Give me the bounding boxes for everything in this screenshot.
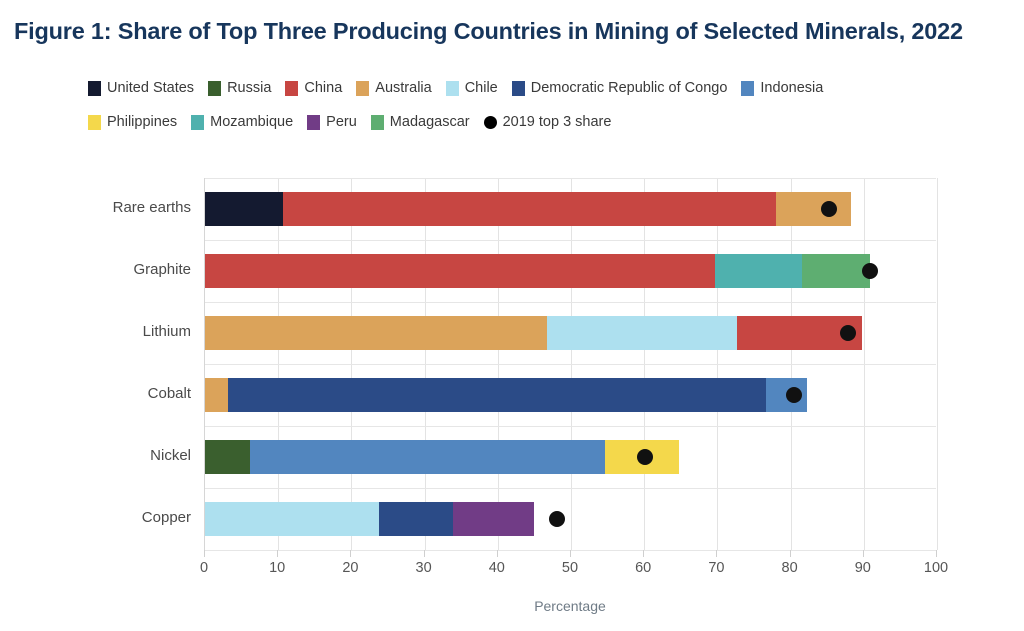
- x-tick: [936, 550, 937, 557]
- x-tick-label-0: 0: [200, 560, 208, 576]
- legend-swatch-icon: [446, 81, 459, 96]
- stacked-bar[interactable]: [205, 316, 862, 350]
- y-axis-label-cobalt: Cobalt: [148, 385, 191, 402]
- x-tick-label-90: 90: [855, 560, 871, 576]
- x-tick: [863, 550, 864, 557]
- legend-united-states[interactable]: United States: [88, 80, 194, 96]
- x-tick-label-100: 100: [924, 560, 948, 576]
- legend-china[interactable]: China: [285, 80, 342, 96]
- bar-row: Graphite: [205, 240, 936, 302]
- x-tick-label-70: 70: [708, 560, 724, 576]
- bar-segment[interactable]: [205, 254, 715, 288]
- x-tick-label-60: 60: [635, 560, 651, 576]
- x-tick: [350, 550, 351, 557]
- x-tick-label-20: 20: [342, 560, 358, 576]
- figure-title: Figure 1: Share of Top Three Producing C…: [14, 18, 1014, 45]
- x-tick-label-50: 50: [562, 560, 578, 576]
- legend-2019-marker[interactable]: 2019 top 3 share: [484, 114, 612, 130]
- y-axis-label-graphite: Graphite: [133, 261, 191, 278]
- chart-legend: United StatesRussiaChinaAustraliaChileDe…: [88, 76, 968, 144]
- bar-row: Rare earths: [205, 178, 936, 240]
- figure-container: Figure 1: Share of Top Three Producing C…: [0, 0, 1024, 631]
- bar-segment[interactable]: [547, 316, 737, 350]
- x-tick: [716, 550, 717, 557]
- bar-segment[interactable]: [715, 254, 802, 288]
- legend-indonesia[interactable]: Indonesia: [741, 80, 823, 96]
- legend-label: United States: [107, 80, 194, 96]
- bar-segment[interactable]: [205, 316, 547, 350]
- x-axis-title: Percentage: [204, 598, 936, 614]
- bar-segment[interactable]: [776, 192, 851, 226]
- legend-russia[interactable]: Russia: [208, 80, 271, 96]
- gridline-100: [937, 178, 938, 550]
- plot-area: Rare earthsGraphiteLithiumCobaltNickelCo…: [204, 178, 936, 550]
- bar-segment[interactable]: [205, 378, 228, 412]
- x-tick: [497, 550, 498, 557]
- legend-label: Peru: [326, 114, 357, 130]
- x-tick-label-30: 30: [416, 560, 432, 576]
- marker-2019-top3-share[interactable]: [862, 263, 878, 279]
- x-tick: [643, 550, 644, 557]
- x-tick-label-40: 40: [489, 560, 505, 576]
- y-axis-label-copper: Copper: [142, 509, 191, 526]
- legend-swatch-icon: [307, 115, 320, 130]
- bar-segment[interactable]: [205, 502, 379, 536]
- y-axis-label-lithium: Lithium: [143, 323, 191, 340]
- stacked-bar[interactable]: [205, 440, 679, 474]
- legend-swatch-icon: [285, 81, 298, 96]
- legend-mozambique[interactable]: Mozambique: [191, 114, 293, 130]
- legend-swatch-icon: [512, 81, 525, 96]
- x-tick: [790, 550, 791, 557]
- bar-row: Lithium: [205, 302, 936, 364]
- legend-row-2: PhilippinesMozambiquePeruMadagascar2019 …: [88, 110, 968, 134]
- legend-chile[interactable]: Chile: [446, 80, 498, 96]
- legend-marker-dot-icon: [484, 116, 497, 129]
- legend-swatch-icon: [741, 81, 754, 96]
- legend-swatch-icon: [88, 81, 101, 96]
- legend-swatch-icon: [208, 81, 221, 96]
- legend-row-1: United StatesRussiaChinaAustraliaChileDe…: [88, 76, 968, 100]
- bar-row: Cobalt: [205, 364, 936, 426]
- marker-2019-top3-share[interactable]: [549, 511, 565, 527]
- stacked-bar[interactable]: [205, 502, 534, 536]
- legend-label: Chile: [465, 80, 498, 96]
- x-tick: [204, 550, 205, 557]
- y-axis-label-rare-earths: Rare earths: [113, 199, 191, 216]
- x-tick: [570, 550, 571, 557]
- legend-label: Democratic Republic of Congo: [531, 80, 728, 96]
- bar-row: Copper: [205, 488, 936, 550]
- legend-label: Madagascar: [390, 114, 470, 130]
- bar-segment[interactable]: [453, 502, 534, 536]
- marker-2019-top3-share[interactable]: [637, 449, 653, 465]
- legend-philippines[interactable]: Philippines: [88, 114, 177, 130]
- legend-peru[interactable]: Peru: [307, 114, 357, 130]
- x-tick: [277, 550, 278, 557]
- legend-label: Australia: [375, 80, 431, 96]
- y-axis-label-nickel: Nickel: [150, 447, 191, 464]
- legend-label: 2019 top 3 share: [503, 114, 612, 130]
- bar-segment[interactable]: [205, 440, 250, 474]
- stacked-bar[interactable]: [205, 192, 851, 226]
- bar-segment[interactable]: [250, 440, 606, 474]
- bar-segment[interactable]: [205, 192, 283, 226]
- legend-swatch-icon: [88, 115, 101, 130]
- x-axis: 0102030405060708090100: [204, 550, 936, 580]
- bar-segment[interactable]: [802, 254, 869, 288]
- legend-label: China: [304, 80, 342, 96]
- legend-label: Indonesia: [760, 80, 823, 96]
- legend-swatch-icon: [356, 81, 369, 96]
- legend-swatch-icon: [191, 115, 204, 130]
- bar-row: Nickel: [205, 426, 936, 488]
- bar-segment[interactable]: [283, 192, 776, 226]
- legend-label: Russia: [227, 80, 271, 96]
- x-tick-label-10: 10: [269, 560, 285, 576]
- bar-segment[interactable]: [379, 502, 453, 536]
- legend-madagascar[interactable]: Madagascar: [371, 114, 470, 130]
- stacked-bar[interactable]: [205, 254, 870, 288]
- x-tick: [424, 550, 425, 557]
- x-tick-label-80: 80: [782, 560, 798, 576]
- legend-swatch-icon: [371, 115, 384, 130]
- bar-segment[interactable]: [228, 378, 767, 412]
- legend-australia[interactable]: Australia: [356, 80, 431, 96]
- legend-label: Mozambique: [210, 114, 293, 130]
- legend-label: Philippines: [107, 114, 177, 130]
- stacked-bar[interactable]: [205, 378, 807, 412]
- legend-drc[interactable]: Democratic Republic of Congo: [512, 80, 728, 96]
